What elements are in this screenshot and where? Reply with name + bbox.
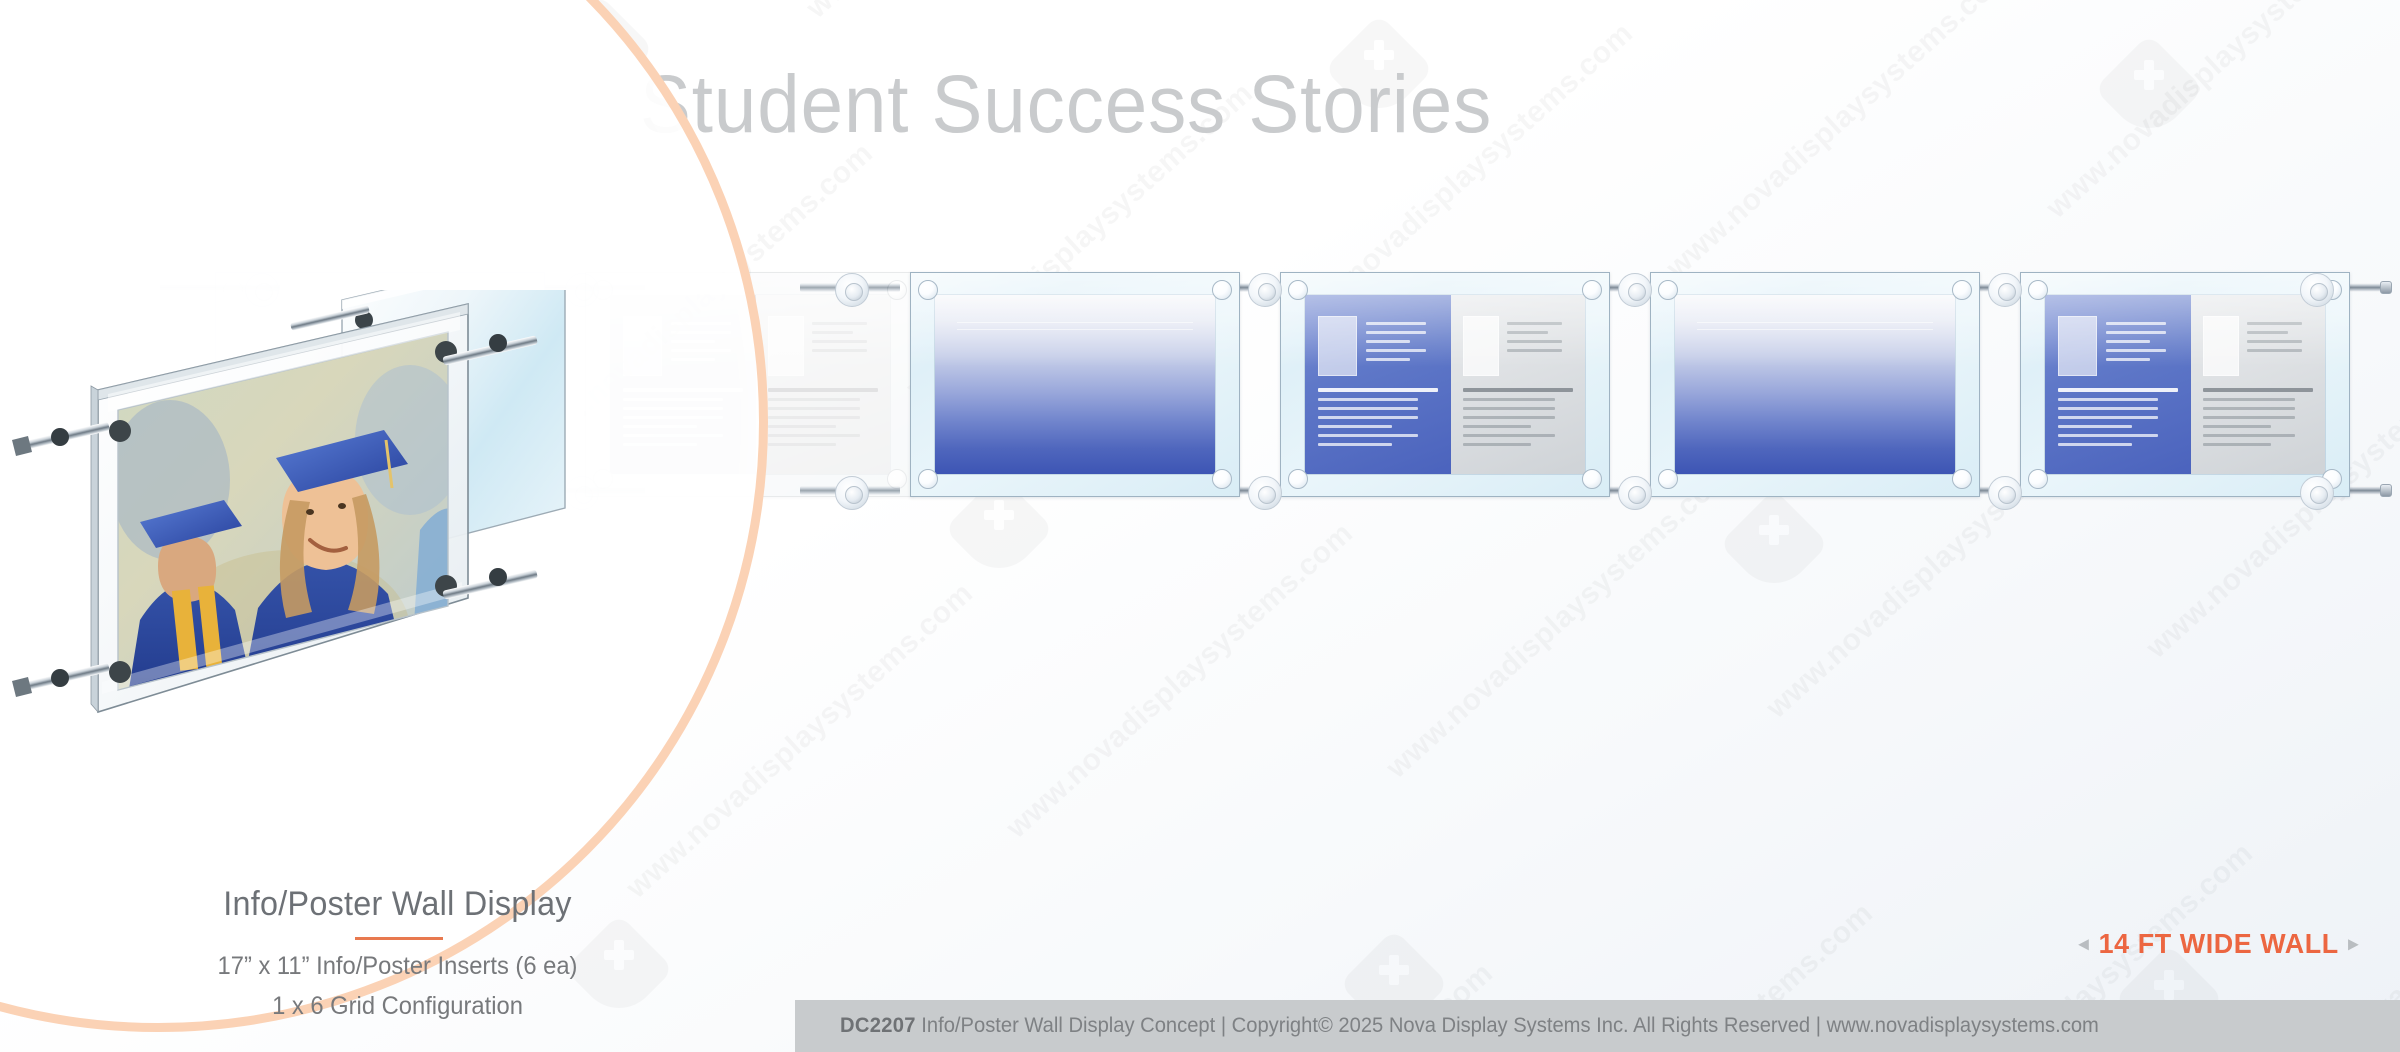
standoff-icon [918,280,938,300]
cable-end-cap [2380,281,2392,294]
cable-collar-icon [2300,273,2334,307]
cable-collar-icon [1618,273,1652,307]
standoff-icon [2028,280,2048,300]
standoff-icon [887,280,907,300]
cable-end-cap [2380,484,2392,497]
standoff-icon [1288,469,1308,489]
standoff-icon [1212,469,1232,489]
poster-insert [1305,295,1585,474]
cable-collar-icon [835,476,869,510]
poster-insert [2045,295,2325,474]
cable-collar-icon [1248,273,1282,307]
standoff-icon [2028,469,2048,489]
wide-wall-badge: ◂ 14 FT WIDE WALL ▸ [2078,928,2358,960]
caption-divider [355,937,443,940]
detail-caption-title: Info/Poster Wall Display [20,885,775,924]
cable-collar-icon [1248,476,1282,510]
footer-copyright: Info/Poster Wall Display Concept | Copyr… [916,1014,2099,1037]
poster-artwork-gradient [1675,295,1955,474]
poster-artwork-gradient [935,295,1215,474]
footer-text: DC2207 Info/Poster Wall Display Concept … [840,1014,2099,1038]
front-acrylic-panel[interactable] [91,304,472,724]
detail-caption-line-2: 1 x 6 Grid Configuration [20,992,775,1021]
arrow-right-icon: ▸ [2348,934,2358,954]
cable-collar-icon [835,273,869,307]
standoff-icon [1658,469,1678,489]
concept-code: DC2207 [840,1014,916,1037]
cable-collar-icon [2300,476,2334,510]
standoff-icon [1658,280,1678,300]
wall-panel[interactable] [1650,272,1980,497]
wall-panel[interactable] [2020,272,2350,497]
foreground-detail-assembly [0,290,690,850]
footer-bar: DC2207 Info/Poster Wall Display Concept … [795,1000,2400,1052]
concept-sheet: www.novadisplaysystems.com www.novadispl… [0,0,2400,1052]
poster-insert [935,295,1215,474]
standoff-icon [1952,280,1972,300]
poster-insert [1675,295,1955,474]
standoff-icon [918,469,938,489]
cable-collar-icon [1988,273,2022,307]
poster-artwork-document [1305,295,1585,474]
wide-wall-label: 14 FT WIDE WALL [2098,928,2338,960]
cable-collar-icon [1618,476,1652,510]
arrow-left-icon: ◂ [2078,934,2088,954]
poster-artwork-document [2045,295,2325,474]
standoff-icon [1952,469,1972,489]
standoff-icon [1582,280,1602,300]
standoff-icon [1212,280,1232,300]
cable-collar-icon [1988,476,2022,510]
standoff-icon [1288,280,1308,300]
wall-panel[interactable] [910,272,1240,497]
standoff-icon [1582,469,1602,489]
wall-panel[interactable] [1280,272,1610,497]
standoff-icon [887,469,907,489]
detail-caption-line-1: 17” x 11” Info/Poster Inserts (6 ea) [20,952,775,981]
